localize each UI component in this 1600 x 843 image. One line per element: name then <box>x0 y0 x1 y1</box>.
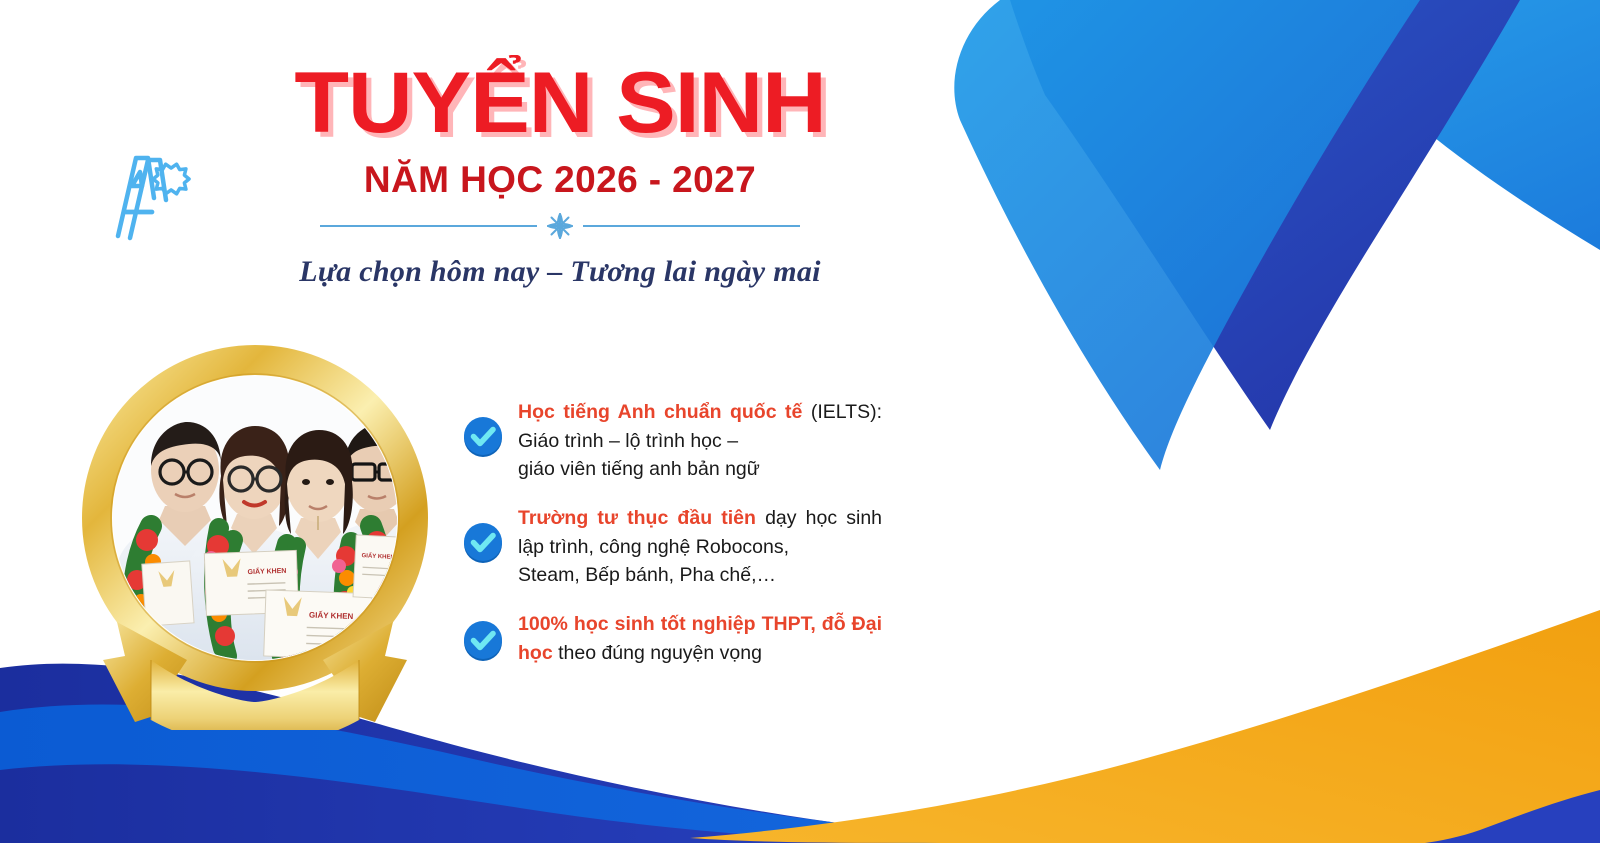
feature-last-line: Steam, Bếp bánh, Pha chế,… <box>518 561 882 590</box>
feature-text: Học tiếng Anh chuẩn quốc tế (IELTS): Giá… <box>518 398 882 484</box>
wave-corner-navy <box>1425 790 1600 843</box>
student-photo-medallion: GIẤY KHEN GIẤY KHEN GIẤY KHEN <box>55 330 455 730</box>
snowflake-icon <box>545 211 575 241</box>
feature-last-line: giáo viên tiếng anh bản ngữ <box>518 455 882 484</box>
feature-highlight: Học tiếng Anh chuẩn quốc tế <box>518 401 802 423</box>
divider-line-right <box>583 225 800 227</box>
check-circle-icon <box>462 522 504 564</box>
list-item: Học tiếng Anh chuẩn quốc tế (IELTS): Giá… <box>462 398 882 484</box>
svg-text:GIẤY KHEN: GIẤY KHEN <box>309 610 354 622</box>
feature-list: Học tiếng Anh chuẩn quốc tế (IELTS): Giá… <box>462 398 882 667</box>
wave-bottom-base <box>0 764 900 843</box>
check-circle-icon <box>462 416 504 458</box>
headline-block: TUYỂN SINH NĂM HỌC 2026 - 2027 Lựa chọn … <box>180 62 940 289</box>
feature-text: 100% học sinh tốt nghiệp THPT, đỗ Đại họ… <box>518 610 882 667</box>
feature-rest: theo đúng nguyện vọng <box>553 642 762 664</box>
list-item: Trường tư thục đầu tiên dạy học sinh lập… <box>462 504 882 590</box>
check-circle-icon <box>462 620 504 662</box>
banner-root: TUYỂN SINH NĂM HỌC 2026 - 2027 Lựa chọn … <box>0 0 1600 843</box>
wave-top-light <box>1045 0 1600 250</box>
page-title: TUYỂN SINH <box>165 62 955 145</box>
wave-top-indigo <box>1010 0 1520 430</box>
tagline: Lựa chọn hôm nay – Tương lai ngày mai <box>180 255 940 289</box>
wave-top-blue <box>954 0 1420 470</box>
list-item: 100% học sinh tốt nghiệp THPT, đỗ Đại họ… <box>462 610 882 667</box>
divider <box>320 215 800 237</box>
divider-line-left <box>320 225 537 227</box>
feature-highlight: Trường tư thục đầu tiên <box>518 507 756 529</box>
academic-year-subtitle: NĂM HỌC 2026 - 2027 <box>180 159 940 201</box>
feature-text: Trường tư thục đầu tiên dạy học sinh lập… <box>518 504 882 590</box>
